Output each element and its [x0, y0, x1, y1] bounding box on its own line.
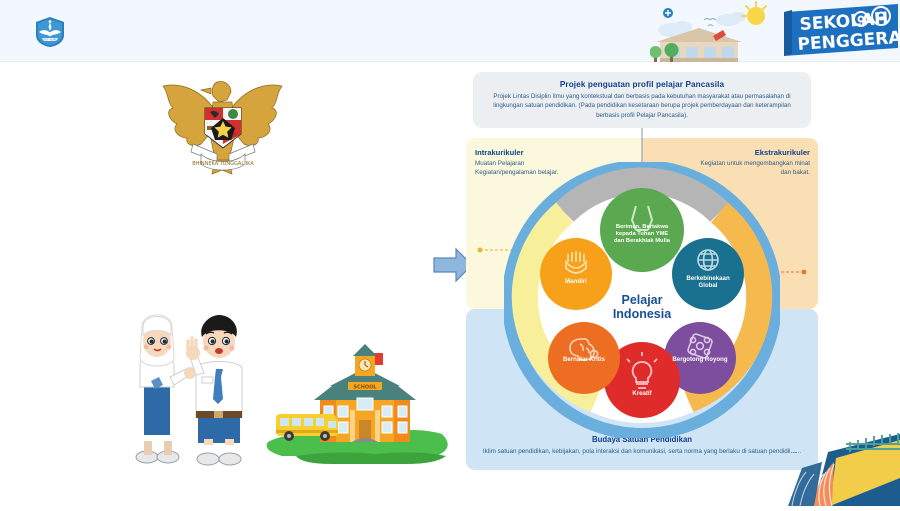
svg-text:BHINNEKA TUNGGAL IKA: BHINNEKA TUNGGAL IKA [192, 161, 254, 167]
wheel-center-label: Pelajar Indonesia [592, 293, 692, 322]
center-line-2: Indonesia [592, 307, 692, 321]
pelajar-pancasila-panel: Budaya Satuan Pendidikan Iklim satuan pe… [466, 72, 818, 470]
students-illustration [126, 305, 271, 470]
bubble-bernalar [548, 322, 620, 394]
batik-fan-decoration [788, 418, 900, 506]
tut-wuri-handayani-logo: TUT WURI [34, 16, 66, 48]
center-line-1: Pelajar [592, 293, 692, 307]
school-building-illustration: SCHOOL [262, 338, 467, 466]
svg-text:SCHOOL: SCHOOL [353, 385, 377, 391]
pelajar-pancasila-wheel: Beriman, Bertakwa kepada Tuhan YME dan B… [504, 162, 780, 438]
header-bar: TUT WURI [0, 0, 900, 62]
svg-text:TUT WURI: TUT WURI [44, 38, 57, 42]
slide-canvas: TUT WURI [0, 0, 900, 506]
sekolah-penggerak-banner: SEKOLAH PENGGERAK [650, 0, 900, 62]
garuda-pancasila-emblem: BHINNEKA TUNGGAL IKA [155, 72, 290, 177]
bubble-beriman [600, 188, 684, 272]
